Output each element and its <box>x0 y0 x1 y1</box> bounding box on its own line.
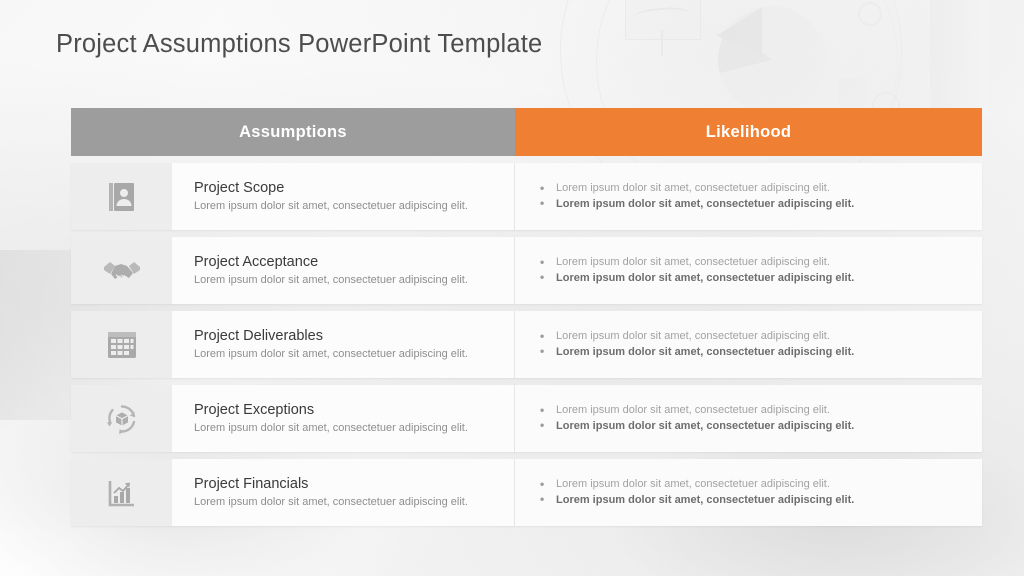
table-row[interactable]: Project Exceptions Lorem ipsum dolor sit… <box>71 385 982 452</box>
row-title: Project Exceptions <box>194 401 514 419</box>
row-likelihood-cell: Lorem ipsum dolor sit amet, consectetuer… <box>515 163 982 230</box>
likelihood-bullet-list: Lorem ipsum dolor sit amet, consectetuer… <box>530 255 982 286</box>
calendar-icon <box>107 330 137 360</box>
row-assumption-cell: Project Scope Lorem ipsum dolor sit amet… <box>172 163 515 230</box>
cube-refresh-icon <box>106 403 138 435</box>
page-title: Project Assumptions PowerPoint Template <box>56 30 542 59</box>
row-assumption-cell: Project Exceptions Lorem ipsum dolor sit… <box>172 385 515 452</box>
likelihood-bullet: Lorem ipsum dolor sit amet, consectetuer… <box>530 345 982 361</box>
handshake-icon <box>103 258 141 284</box>
row-subtitle: Lorem ipsum dolor sit amet, consectetuer… <box>194 422 514 436</box>
row-icon-cell <box>71 311 172 378</box>
row-title: Project Scope <box>194 179 514 197</box>
likelihood-bullet: Lorem ipsum dolor sit amet, consectetuer… <box>530 477 982 493</box>
row-likelihood-cell: Lorem ipsum dolor sit amet, consectetuer… <box>515 311 982 378</box>
column-header-likelihood: Likelihood <box>515 108 982 156</box>
row-likelihood-cell: Lorem ipsum dolor sit amet, consectetuer… <box>515 385 982 452</box>
row-icon-cell <box>71 385 172 452</box>
likelihood-bullet-list: Lorem ipsum dolor sit amet, consectetuer… <box>530 477 982 508</box>
row-subtitle: Lorem ipsum dolor sit amet, consectetuer… <box>194 200 514 214</box>
likelihood-bullet: Lorem ipsum dolor sit amet, consectetuer… <box>530 181 982 197</box>
row-title: Project Acceptance <box>194 253 514 271</box>
row-title: Project Deliverables <box>194 327 514 345</box>
likelihood-bullet: Lorem ipsum dolor sit amet, consectetuer… <box>530 329 982 345</box>
likelihood-bullet: Lorem ipsum dolor sit amet, consectetuer… <box>530 271 982 287</box>
column-header-assumptions: Assumptions <box>71 108 515 156</box>
table-row[interactable]: Project Deliverables Lorem ipsum dolor s… <box>71 311 982 378</box>
row-title: Project Financials <box>194 475 514 493</box>
likelihood-bullet-list: Lorem ipsum dolor sit amet, consectetuer… <box>530 403 982 434</box>
assumptions-table: Assumptions Likelihood Project Sco <box>71 108 982 526</box>
likelihood-bullet: Lorem ipsum dolor sit amet, consectetuer… <box>530 493 982 509</box>
table-row[interactable]: Project Financials Lorem ipsum dolor sit… <box>71 459 982 526</box>
row-icon-cell <box>71 459 172 526</box>
table-header-row: Assumptions Likelihood <box>71 108 982 156</box>
contact-book-icon <box>108 181 135 213</box>
slide-canvas: Project Assumptions PowerPoint Template … <box>0 0 1024 576</box>
row-likelihood-cell: Lorem ipsum dolor sit amet, consectetuer… <box>515 459 982 526</box>
row-assumption-cell: Project Acceptance Lorem ipsum dolor sit… <box>172 237 515 304</box>
likelihood-bullet-list: Lorem ipsum dolor sit amet, consectetuer… <box>530 329 982 360</box>
likelihood-bullet: Lorem ipsum dolor sit amet, consectetuer… <box>530 197 982 213</box>
row-subtitle: Lorem ipsum dolor sit amet, consectetuer… <box>194 274 514 288</box>
likelihood-bullet: Lorem ipsum dolor sit amet, consectetuer… <box>530 403 982 419</box>
row-subtitle: Lorem ipsum dolor sit amet, consectetuer… <box>194 348 514 362</box>
likelihood-bullet-list: Lorem ipsum dolor sit amet, consectetuer… <box>530 181 982 212</box>
row-subtitle: Lorem ipsum dolor sit amet, consectetuer… <box>194 496 514 510</box>
column-header-assumptions-label: Assumptions <box>239 123 347 142</box>
table-row[interactable]: Project Scope Lorem ipsum dolor sit amet… <box>71 163 982 230</box>
row-assumption-cell: Project Deliverables Lorem ipsum dolor s… <box>172 311 515 378</box>
likelihood-bullet: Lorem ipsum dolor sit amet, consectetuer… <box>530 255 982 271</box>
row-icon-cell <box>71 163 172 230</box>
likelihood-bullet: Lorem ipsum dolor sit amet, consectetuer… <box>530 419 982 435</box>
row-likelihood-cell: Lorem ipsum dolor sit amet, consectetuer… <box>515 237 982 304</box>
column-header-likelihood-label: Likelihood <box>706 123 792 142</box>
table-row[interactable]: Project Acceptance Lorem ipsum dolor sit… <box>71 237 982 304</box>
bar-chart-growth-icon <box>108 479 136 507</box>
row-assumption-cell: Project Financials Lorem ipsum dolor sit… <box>172 459 515 526</box>
row-icon-cell <box>71 237 172 304</box>
